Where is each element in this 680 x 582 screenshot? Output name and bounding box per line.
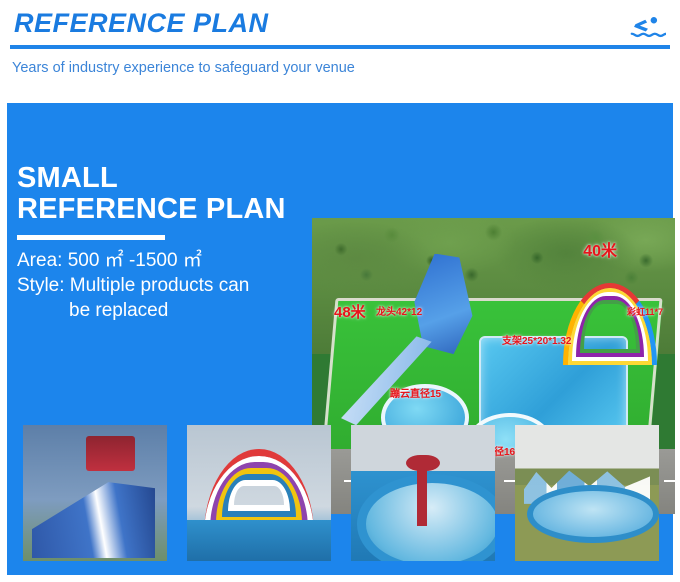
hero-label-rainbow-slide: 彩虹11*7	[627, 308, 663, 317]
hero-label-site-depth: 40米	[583, 244, 617, 260]
thumb-rainbow-arch-slide-pool[interactable]	[187, 425, 331, 561]
thumb-4-round-pool	[527, 485, 659, 543]
reference-plan-panel: SMALL REFERENCE PLAN Area: 500 ㎡ -1500 ㎡…	[7, 103, 673, 575]
thumb-2-pool-water	[187, 520, 331, 561]
thumb-1-tower	[86, 436, 135, 471]
thumbnail-strip	[7, 413, 673, 573]
header-subtitle: Years of industry experience to safeguar…	[12, 60, 355, 76]
thumb-inflatable-water-park-grass[interactable]	[515, 425, 659, 561]
hero-label-frame-pool: 支架25*20*1.32	[502, 337, 572, 347]
plan-style-spec: Style: Multiple products can	[17, 274, 309, 299]
thumb-snowman-round-pool[interactable]	[351, 425, 495, 561]
plan-heading-line-2: REFERENCE PLAN	[17, 193, 286, 225]
page-title: REFERENCE PLAN	[14, 8, 269, 39]
thumb-blue-inflatable-slide[interactable]	[23, 425, 167, 561]
reference-plan-page: REFERENCE PLAN Years of industry experie…	[0, 0, 680, 582]
thumb-3-snowman-hat	[406, 455, 441, 471]
swimmer-icon	[630, 14, 666, 40]
thumb-3-snowman-body	[417, 463, 427, 526]
hero-label-dragon-slide: 龙头42*12	[376, 308, 422, 318]
plan-heading: SMALL REFERENCE PLAN	[17, 163, 309, 224]
hero-label-bouncy-cloud: 蹦云直径15	[390, 390, 441, 400]
plan-heading-underline	[17, 235, 165, 240]
plan-style-spec-cont: be replaced	[17, 299, 309, 324]
plan-heading-line-1: SMALL	[17, 162, 118, 194]
page-header: REFERENCE PLAN Years of industry experie…	[0, 0, 680, 100]
header-divider	[10, 45, 670, 49]
plan-area-spec: Area: 500 ㎡ -1500 ㎡	[17, 249, 309, 274]
hero-label-site-width: 48米	[334, 305, 366, 320]
plan-copy-block: SMALL REFERENCE PLAN Area: 500 ㎡ -1500 ㎡…	[17, 163, 309, 324]
